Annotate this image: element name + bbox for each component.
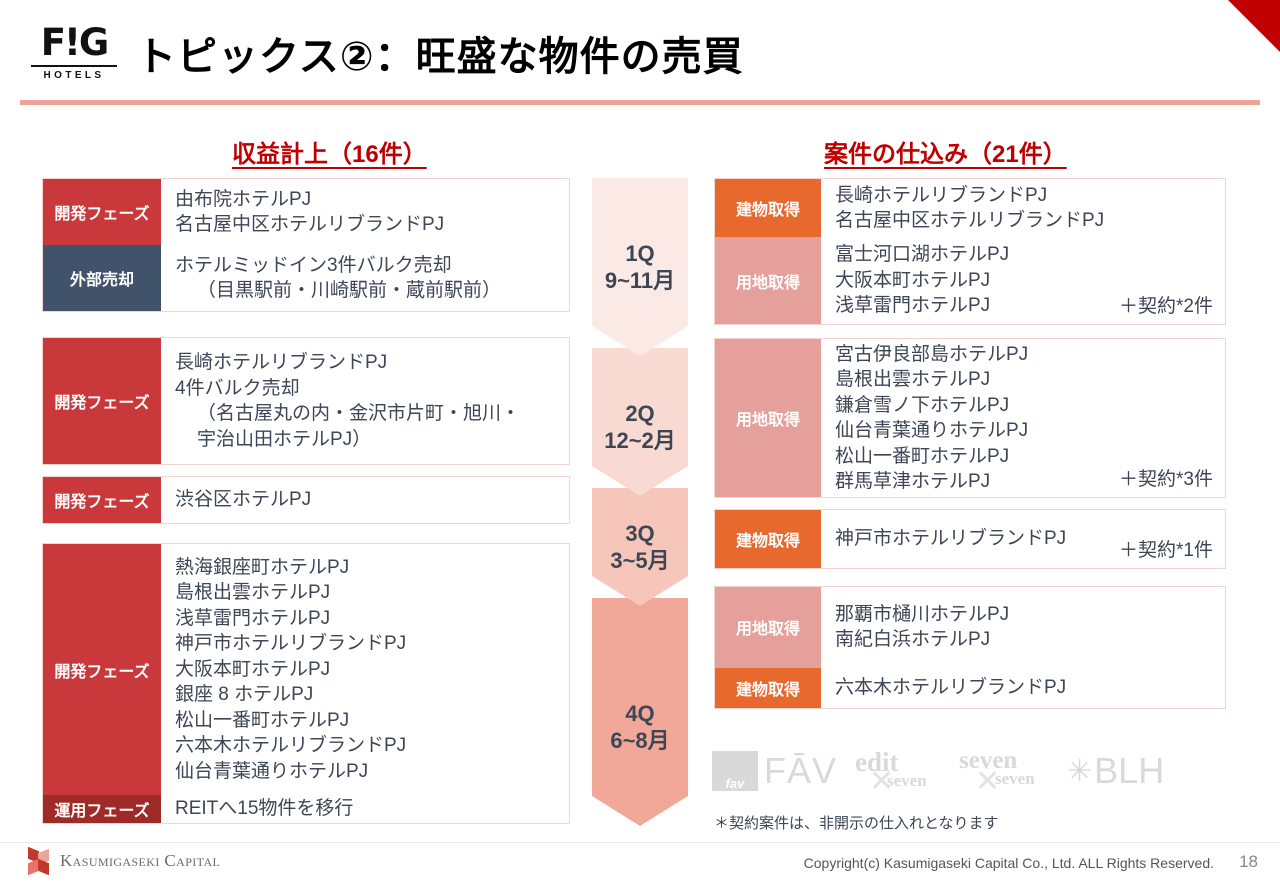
phase-tag: 外部売却 xyxy=(43,245,161,311)
project-list-cell: 神戸市ホテルリブランドPJ＋契約*1件 xyxy=(821,510,1225,568)
project-list-cell: 富士河口湖ホテルPJ大阪本町ホテルPJ浅草雷門ホテルPJ＋契約*2件 xyxy=(821,237,1225,324)
right-group-2: 用地取得宮古伊良部島ホテルPJ島根出雲ホテルPJ鎌倉雪ノ下ホテルPJ仙台青葉通り… xyxy=(714,338,1226,498)
seven-word-bottom: seven xyxy=(995,769,1035,789)
quarter-number: 4Q xyxy=(610,700,669,727)
edit-x-seven-logo: edit✕seven xyxy=(851,747,943,795)
project-line: 大阪本町ホテルPJ xyxy=(835,268,1225,294)
table-row: 開発フェーズ長崎ホテルリブランドPJ4件バルク売却（名古屋丸の内・金沢市片町・旭… xyxy=(43,338,569,464)
header-divider xyxy=(20,100,1260,105)
left-group-4: 開発フェーズ熱海銀座町ホテルPJ島根出雲ホテルPJ浅草雷門ホテルPJ神戸市ホテル… xyxy=(42,543,570,824)
table-row: 運用フェーズREITへ15物件を移行 xyxy=(43,795,569,823)
table-row: 開発フェーズ由布院ホテルPJ名古屋中区ホテルリブランドPJ xyxy=(43,179,569,245)
contract-count-note: ＋契約*2件 xyxy=(1119,291,1213,318)
fav-mark-icon: fav xyxy=(712,751,758,791)
project-line: 南紀白浜ホテルPJ xyxy=(835,627,1225,653)
page-title: トピックス②：旺盛な物件の売買 xyxy=(136,24,744,82)
kasumigaseki-mark-icon xyxy=(26,848,52,874)
project-list-cell: REITへ15物件を移行 xyxy=(161,795,569,823)
quarter-number: 3Q xyxy=(610,520,669,547)
table-row: 開発フェーズ熱海銀座町ホテルPJ島根出雲ホテルPJ浅草雷門ホテルPJ神戸市ホテル… xyxy=(43,544,569,795)
fig-hotels-logo: F!G HOTELS xyxy=(28,22,120,90)
fav-logo: favFĀV xyxy=(712,750,837,792)
seven-x-seven-logo: seven✕seven xyxy=(957,747,1053,795)
fig-logo-subtitle: HOTELS xyxy=(28,70,120,81)
corner-accent-triangle xyxy=(1228,0,1280,52)
quarter-label: 3Q3~5月 xyxy=(610,520,669,574)
fav-wordmark: FĀV xyxy=(764,750,837,792)
quarter-label: 4Q6~8月 xyxy=(610,700,669,754)
project-list-cell: 六本木ホテルリブランドPJ xyxy=(821,668,1225,708)
table-row: 建物取得長崎ホテルリブランドPJ名古屋中区ホテルリブランドPJ xyxy=(715,179,1225,237)
quarter-arrow-2q: 2Q12~2月 xyxy=(592,348,688,496)
phase-tag: 用地取得 xyxy=(715,339,821,497)
project-line: 鎌倉雪ノ下ホテルPJ xyxy=(835,393,1225,419)
footer-divider xyxy=(0,842,1280,843)
project-line: 六本木ホテルリブランドPJ xyxy=(175,733,569,759)
project-line: 松山一番町ホテルPJ xyxy=(175,708,569,734)
left-column-heading: 収益計上（16件） xyxy=(232,134,427,169)
right-group-4: 用地取得那覇市樋川ホテルPJ南紀白浜ホテルPJ建物取得六本木ホテルリブランドPJ xyxy=(714,586,1226,709)
quarter-months: 9~11月 xyxy=(605,267,675,294)
blh-logo: ✳BLH xyxy=(1067,750,1164,792)
table-row: 外部売却ホテルミッドイン3件バルク売却（目黒駅前・川崎駅前・蔵前駅前） xyxy=(43,245,569,311)
project-line: 島根出雲ホテルPJ xyxy=(175,580,569,606)
project-line: 由布院ホテルPJ xyxy=(175,187,569,213)
blh-wordmark: BLH xyxy=(1094,750,1164,792)
project-line: 仙台青葉通りホテルPJ xyxy=(175,759,569,785)
copyright-text: Copyright(c) Kasumigaseki Capital Co., L… xyxy=(804,855,1214,871)
phase-tag: 建物取得 xyxy=(715,510,821,568)
quarter-label: 2Q12~2月 xyxy=(604,400,676,454)
quarter-months: 6~8月 xyxy=(610,727,669,754)
phase-tag: 開発フェーズ xyxy=(43,179,161,245)
project-list-cell: 長崎ホテルリブランドPJ4件バルク売却（名古屋丸の内・金沢市片町・旭川・宇治山田… xyxy=(161,338,569,464)
contract-count-note: ＋契約*3件 xyxy=(1119,464,1213,491)
left-group-3: 開発フェーズ渋谷区ホテルPJ xyxy=(42,476,570,524)
project-line: 宮古伊良部島ホテルPJ xyxy=(835,342,1225,368)
quarter-months: 3~5月 xyxy=(610,547,669,574)
phase-tag: 開発フェーズ xyxy=(43,477,161,523)
project-line: 大阪本町ホテルPJ xyxy=(175,657,569,683)
project-line: 長崎ホテルリブランドPJ xyxy=(175,350,569,376)
project-line: ホテルミッドイン3件バルク売却 xyxy=(175,253,569,279)
project-line: （名古屋丸の内・金沢市片町・旭川・ xyxy=(175,401,569,427)
quarter-arrow-4q: 4Q6~8月 xyxy=(592,598,688,826)
table-row: 用地取得富士河口湖ホテルPJ大阪本町ホテルPJ浅草雷門ホテルPJ＋契約*2件 xyxy=(715,237,1225,324)
project-list-cell: ホテルミッドイン3件バルク売却（目黒駅前・川崎駅前・蔵前駅前） xyxy=(161,245,569,311)
project-list-cell: 熱海銀座町ホテルPJ島根出雲ホテルPJ浅草雷門ホテルPJ神戸市ホテルリブランドP… xyxy=(161,544,569,795)
project-list-cell: 那覇市樋川ホテルPJ南紀白浜ホテルPJ xyxy=(821,587,1225,668)
table-row: 用地取得那覇市樋川ホテルPJ南紀白浜ホテルPJ xyxy=(715,587,1225,668)
project-line: 渋谷区ホテルPJ xyxy=(175,487,569,513)
asterisk-icon: ✳ xyxy=(1067,754,1092,789)
seven-word: seven xyxy=(887,771,927,791)
table-row: 建物取得神戸市ホテルリブランドPJ＋契約*1件 xyxy=(715,510,1225,568)
left-group-1: 開発フェーズ由布院ホテルPJ名古屋中区ホテルリブランドPJ外部売却ホテルミッドイ… xyxy=(42,178,570,312)
project-line: REITへ15物件を移行 xyxy=(175,796,569,822)
fig-logo-divider xyxy=(31,65,117,67)
phase-tag: 開発フェーズ xyxy=(43,544,161,795)
project-line: 富士河口湖ホテルPJ xyxy=(835,242,1225,268)
project-line: 浅草雷門ホテルPJ xyxy=(175,606,569,632)
project-list-cell: 長崎ホテルリブランドPJ名古屋中区ホテルリブランドPJ xyxy=(821,179,1225,237)
project-line: 那覇市樋川ホテルPJ xyxy=(835,602,1225,628)
kasumigaseki-logo-text: Kasumigaseki Capital xyxy=(60,851,220,871)
page-number: 18 xyxy=(1239,852,1258,872)
quarter-arrow-3q: 3Q3~5月 xyxy=(592,488,688,606)
project-line: 島根出雲ホテルPJ xyxy=(835,367,1225,393)
project-list-cell: 宮古伊良部島ホテルPJ島根出雲ホテルPJ鎌倉雪ノ下ホテルPJ仙台青葉通りホテルP… xyxy=(821,339,1225,497)
quarter-months: 12~2月 xyxy=(604,427,676,454)
kasumigaseki-logo: Kasumigaseki Capital xyxy=(26,848,220,874)
project-line: 六本木ホテルリブランドPJ xyxy=(835,675,1225,701)
project-line: 銀座 8 ホテルPJ xyxy=(175,682,569,708)
table-row: 用地取得宮古伊良部島ホテルPJ島根出雲ホテルPJ鎌倉雪ノ下ホテルPJ仙台青葉通り… xyxy=(715,339,1225,497)
table-row: 建物取得六本木ホテルリブランドPJ xyxy=(715,668,1225,708)
fig-logo-mark: F!G xyxy=(28,22,120,64)
right-column-heading: 案件の仕込み（21件） xyxy=(824,134,1067,169)
contract-count-note: ＋契約*1件 xyxy=(1119,535,1213,562)
hotel-brand-logos: favFĀVedit✕sevenseven✕seven✳BLH xyxy=(712,742,1232,800)
project-list-cell: 渋谷区ホテルPJ xyxy=(161,477,569,523)
phase-tag: 用地取得 xyxy=(715,237,821,324)
phase-tag: 運用フェーズ xyxy=(43,795,161,823)
quarter-number: 2Q xyxy=(604,400,676,427)
phase-tag: 建物取得 xyxy=(715,179,821,237)
project-line: 名古屋中区ホテルリブランドPJ xyxy=(835,208,1225,234)
project-line: 長崎ホテルリブランドPJ xyxy=(835,183,1225,209)
right-group-1: 建物取得長崎ホテルリブランドPJ名古屋中区ホテルリブランドPJ用地取得富士河口湖… xyxy=(714,178,1226,325)
phase-tag: 用地取得 xyxy=(715,587,821,668)
phase-tag: 開発フェーズ xyxy=(43,338,161,464)
table-row: 開発フェーズ渋谷区ホテルPJ xyxy=(43,477,569,523)
project-line: 宇治山田ホテルPJ） xyxy=(175,427,569,453)
project-line: 仙台青葉通りホテルPJ xyxy=(835,418,1225,444)
left-group-2: 開発フェーズ長崎ホテルリブランドPJ4件バルク売却（名古屋丸の内・金沢市片町・旭… xyxy=(42,337,570,465)
footnote-text: ＊契約案件は、非開示の仕入れとなります xyxy=(714,812,999,833)
quarter-timeline: 1Q9~11月2Q12~2月3Q3~5月4Q6~8月 xyxy=(592,178,688,826)
right-group-3: 建物取得神戸市ホテルリブランドPJ＋契約*1件 xyxy=(714,509,1226,569)
phase-tag: 建物取得 xyxy=(715,668,821,708)
project-line: 熱海銀座町ホテルPJ xyxy=(175,555,569,581)
project-line: 名古屋中区ホテルリブランドPJ xyxy=(175,212,569,238)
project-line: 神戸市ホテルリブランドPJ xyxy=(175,631,569,657)
project-line: 4件バルク売却 xyxy=(175,376,569,402)
project-line: （目黒駅前・川崎駅前・蔵前駅前） xyxy=(175,278,569,304)
quarter-number: 1Q xyxy=(605,240,675,267)
quarter-label: 1Q9~11月 xyxy=(605,240,675,294)
project-list-cell: 由布院ホテルPJ名古屋中区ホテルリブランドPJ xyxy=(161,179,569,245)
slide-canvas: F!G HOTELS トピックス②：旺盛な物件の売買 収益計上（16件） 案件の… xyxy=(0,0,1280,886)
quarter-arrow-1q: 1Q9~11月 xyxy=(592,178,688,356)
